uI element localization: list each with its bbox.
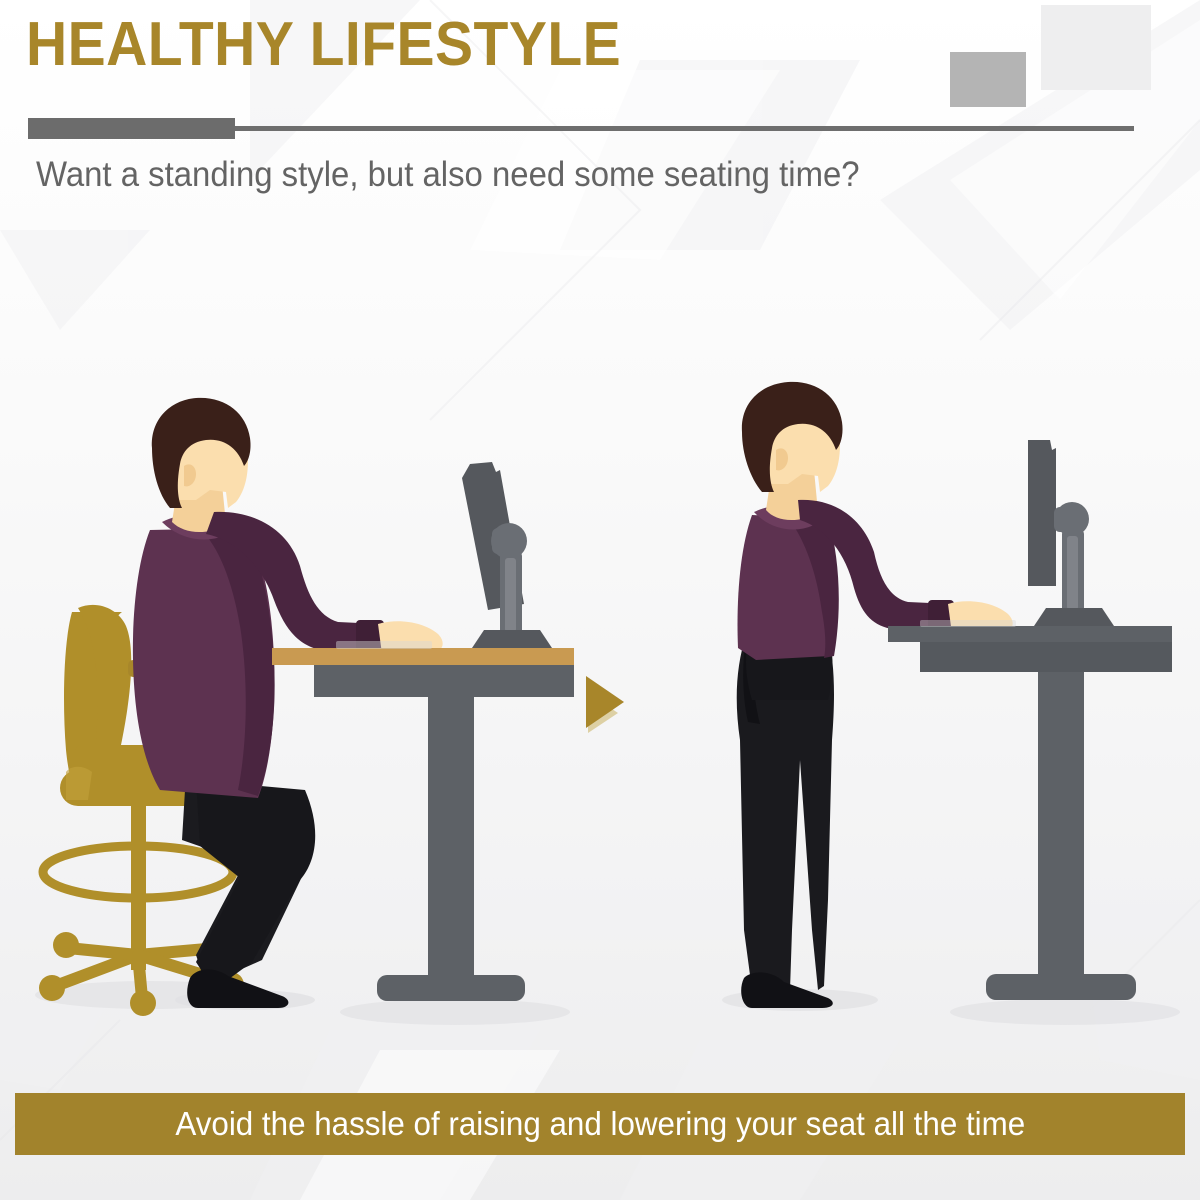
standing-scene	[737, 382, 1172, 1008]
footer-banner-text: Avoid the hassle of raising and lowering…	[175, 1105, 1025, 1143]
seated-scene	[39, 398, 624, 1016]
standing-person	[737, 382, 1013, 1008]
poster-canvas: HEALTHY LIFESTYLE Want a standing style,…	[0, 0, 1200, 1200]
raised-desk	[888, 620, 1172, 1000]
play-triangle-right-icon	[586, 676, 624, 733]
footer-banner: Avoid the hassle of raising and lowering…	[15, 1093, 1185, 1155]
seated-person	[133, 398, 443, 1008]
monitor-tilted	[462, 462, 552, 648]
monitor-upright	[1028, 440, 1114, 626]
lowered-desk	[272, 641, 574, 1001]
illustration	[0, 0, 1200, 1200]
